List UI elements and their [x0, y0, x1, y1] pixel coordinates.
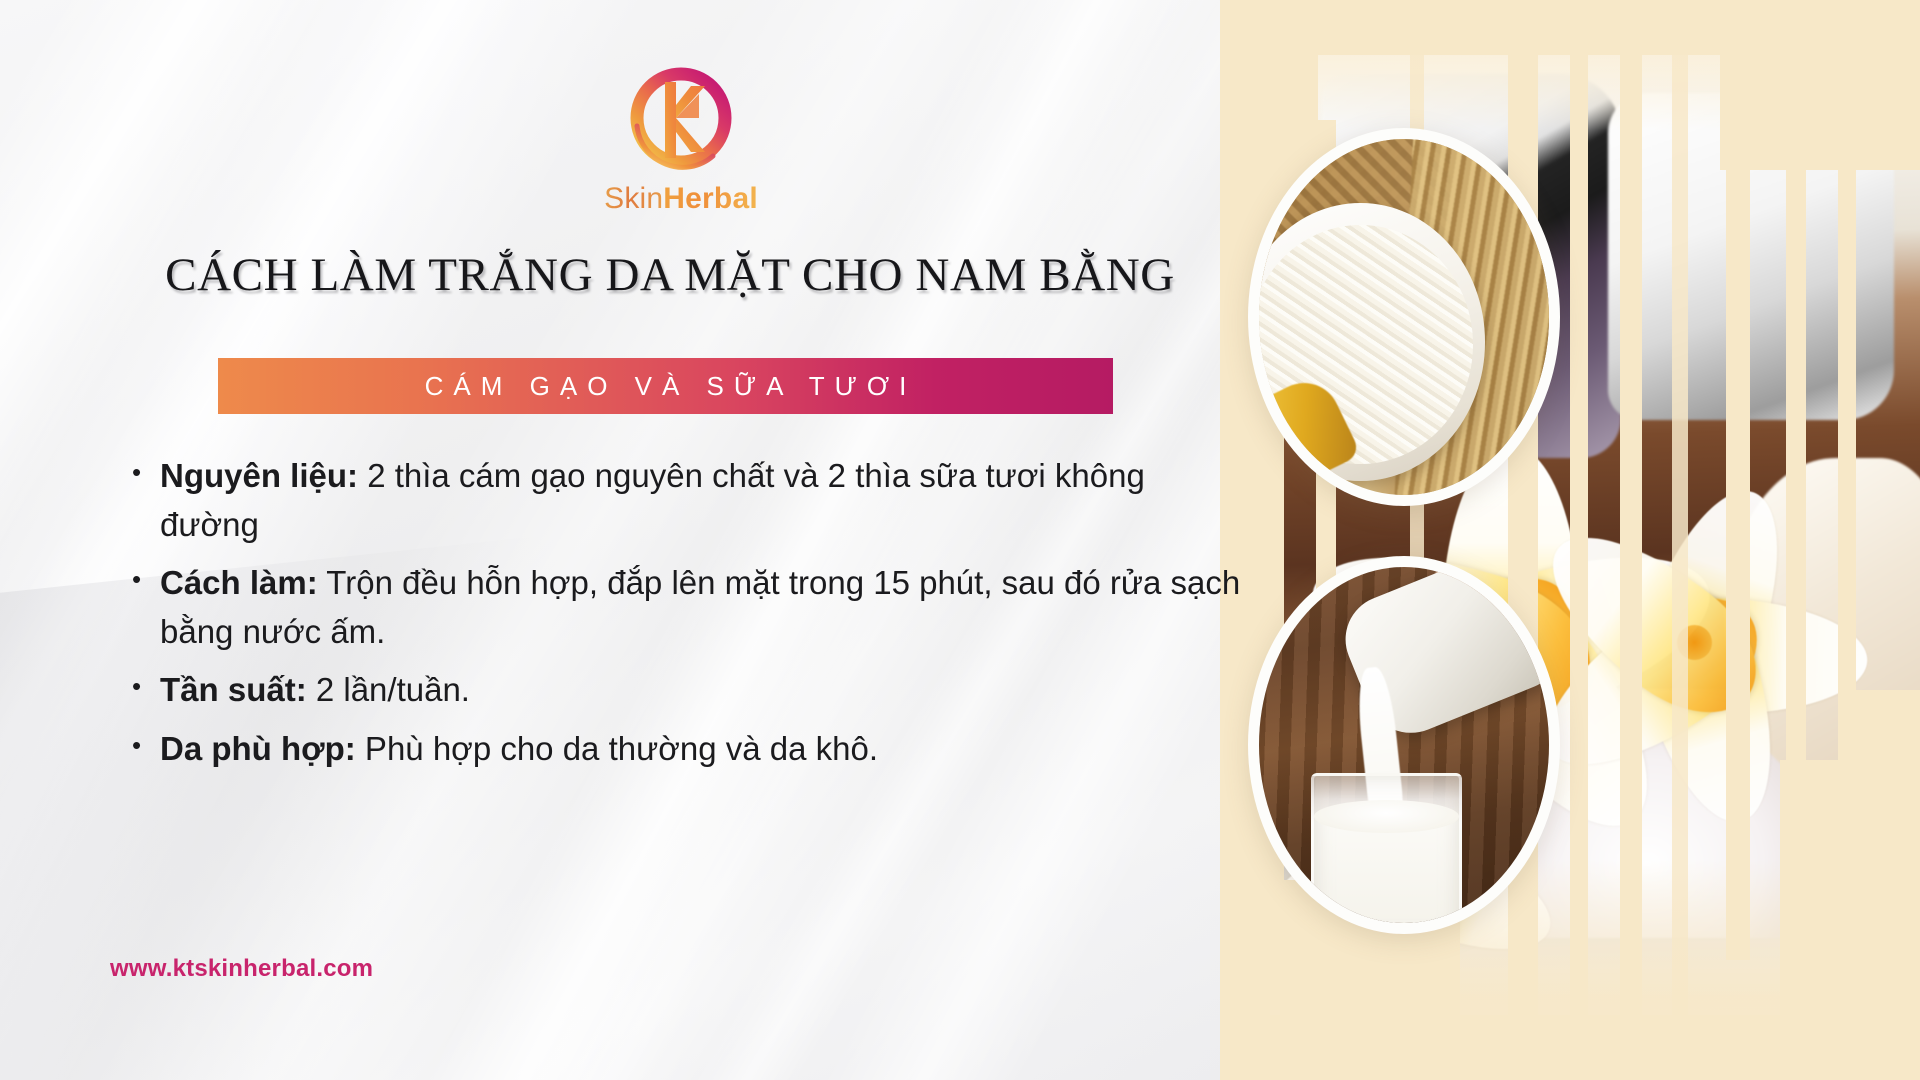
- k-circle-logo-icon: [621, 60, 741, 180]
- website-url[interactable]: www.ktskinherbal.com: [110, 955, 373, 983]
- brand-name-light: Skin: [604, 182, 663, 215]
- brand-name-bold: Herbal: [663, 182, 758, 215]
- bullet-marker-icon: •: [132, 452, 160, 549]
- recipe-list: • Nguyên liệu: 2 thìa cám gạo nguyên chấ…: [132, 452, 1242, 783]
- bullet-marker-icon: •: [132, 666, 160, 715]
- subtitle-banner: CÁM GẠO VÀ SỮA TƯƠI: [218, 358, 1113, 414]
- list-item-text: Da phù hợp: Phù hợp cho da thường và da …: [160, 725, 1242, 774]
- page-title: CÁCH LÀM TRẮNG DA MẶT CHO NAM BẰNG: [110, 248, 1230, 302]
- list-item-label: Cách làm:: [160, 564, 318, 601]
- plumeria-flower: [1569, 477, 1819, 727]
- subtitle-banner-text: CÁM GẠO VÀ SỮA TƯƠI: [415, 371, 917, 402]
- list-item-label: Nguyên liệu:: [160, 457, 358, 494]
- list-item-value: 2 lần/tuần.: [307, 671, 470, 708]
- list-item-value: Trộn đều hỗn hợp, đắp lên mặt trong 15 p…: [160, 564, 1240, 650]
- circle-photo-milk: [1248, 556, 1560, 934]
- list-item-text: Nguyên liệu: 2 thìa cám gạo nguyên chất …: [160, 452, 1242, 549]
- list-item-text: Tần suất: 2 lần/tuần.: [160, 666, 1242, 715]
- list-item: • Da phù hợp: Phù hợp cho da thường và d…: [132, 725, 1242, 774]
- rice-bowl-image: [1259, 139, 1549, 495]
- list-item: • Cách làm: Trộn đều hỗn hợp, đắp lên mặ…: [132, 559, 1242, 656]
- brand-logo[interactable]: SkinHerbal: [596, 60, 766, 214]
- list-item-label: Tần suất:: [160, 671, 307, 708]
- bullet-marker-icon: •: [132, 725, 160, 774]
- list-item-value: Phù hợp cho da thường và da khô.: [356, 730, 878, 767]
- brand-wordmark: SkinHerbal: [596, 184, 766, 214]
- list-item: • Tần suất: 2 lần/tuần.: [132, 666, 1242, 715]
- list-item-text: Cách làm: Trộn đều hỗn hợp, đắp lên mặt …: [160, 559, 1242, 656]
- collage-top-fade: [1220, 0, 1920, 130]
- collage-stripe: [1726, 0, 1750, 960]
- circle-photo-rice: [1248, 128, 1560, 506]
- list-item: • Nguyên liệu: 2 thìa cám gạo nguyên chấ…: [132, 452, 1242, 549]
- list-item-label: Da phù hợp:: [160, 730, 356, 767]
- infographic-canvas: SkinHerbal CÁCH LÀM TRẮNG DA MẶT CHO NAM…: [0, 0, 1920, 1080]
- milk-pouring-image: [1259, 567, 1549, 923]
- bullet-marker-icon: •: [132, 559, 160, 656]
